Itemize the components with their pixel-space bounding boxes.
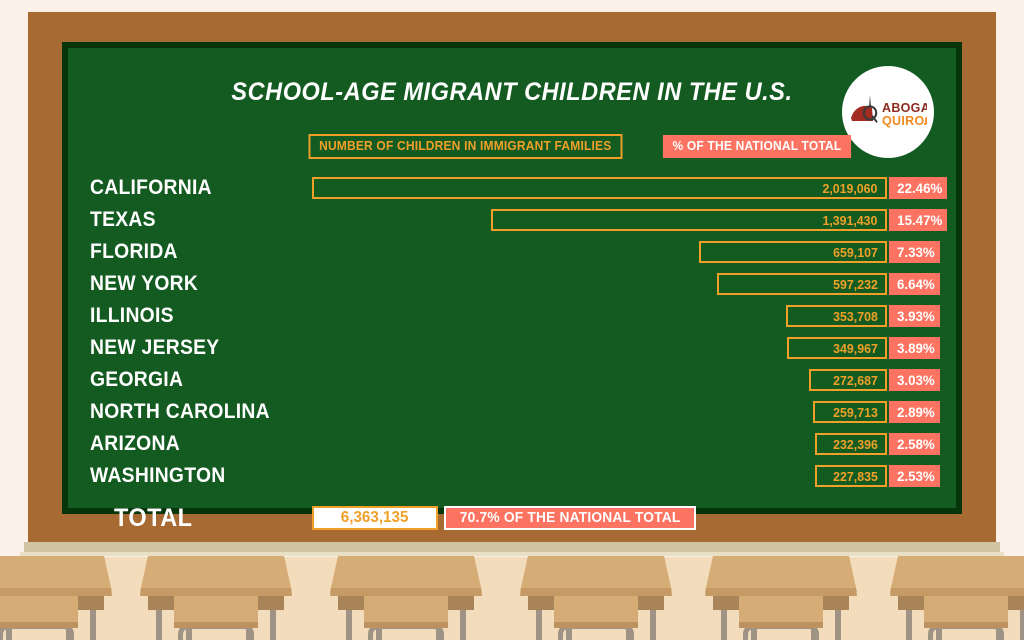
desk-top-shadow xyxy=(705,588,857,596)
chart-legend: NUMBER OF CHILDREN IN IMMIGRANT FAMILIES… xyxy=(302,134,854,159)
state-label: FLORIDA xyxy=(90,240,178,264)
value-bar: 227,835 xyxy=(815,465,887,487)
value-bar: 272,687 xyxy=(809,369,887,391)
state-label: NEW JERSEY xyxy=(90,336,219,360)
logo-mark-icon: ABOGADO QUIROGA xyxy=(849,92,927,132)
row-bars: 659,1077.33% xyxy=(699,241,968,263)
percent-label: 15.47% xyxy=(897,212,942,228)
desk-leg xyxy=(156,610,162,640)
legend-item-percent-national-total: % OF THE NATIONAL TOTAL xyxy=(662,135,850,158)
total-value-label: 6,363,135 xyxy=(341,509,409,527)
state-label: NORTH CAROLINA xyxy=(90,400,270,424)
desk-leg xyxy=(906,610,912,640)
desk-top-shadow xyxy=(520,588,672,596)
row-bars: 1,391,43015.47% xyxy=(491,209,968,231)
chart-row: FLORIDA659,1077.33% xyxy=(68,236,968,268)
value-label: 659,107 xyxy=(833,245,878,260)
value-label: 597,232 xyxy=(833,277,878,292)
value-label: 1,391,430 xyxy=(823,213,878,228)
row-bars: 597,2326.64% xyxy=(717,273,968,295)
value-label: 259,713 xyxy=(833,405,878,420)
infographic-canvas: SCHOOL-AGE MIGRANT CHILDREN IN THE U.S. … xyxy=(0,0,1024,640)
desk-leg xyxy=(90,610,96,640)
chart-row: WASHINGTON227,8352.53% xyxy=(68,460,968,492)
desk-leg xyxy=(1020,610,1024,640)
percent-label: 3.03% xyxy=(897,372,935,388)
logo-abogado-quiroga: ABOGADO QUIROGA xyxy=(842,66,934,158)
percent-bar: 3.93% xyxy=(889,305,940,327)
svg-text:QUIROGA: QUIROGA xyxy=(882,114,927,128)
desk-top-shadow xyxy=(0,588,112,596)
value-bar: 232,396 xyxy=(815,433,887,455)
chair-seat-shadow xyxy=(364,622,448,628)
desk xyxy=(140,556,292,640)
chart-row: ILLINOIS353,7083.93% xyxy=(68,300,968,332)
bar-chart: CALIFORNIA2,019,06022.46%TEXAS1,391,4301… xyxy=(68,172,968,538)
chalkboard-surface: SCHOOL-AGE MIGRANT CHILDREN IN THE U.S. … xyxy=(68,48,956,508)
percent-label: 22.46% xyxy=(897,180,942,196)
desk-top xyxy=(705,556,857,592)
state-label: GEORGIA xyxy=(90,368,183,392)
percent-bar: 15.47% xyxy=(889,209,947,231)
total-percent-label: 70.7% OF THE NATIONAL TOTAL xyxy=(460,510,681,526)
chalkboard-ledge xyxy=(24,542,1000,552)
chair-seat-shadow xyxy=(924,622,1008,628)
desk-leg xyxy=(346,610,352,640)
percent-label: 2.53% xyxy=(897,468,935,484)
chart-row: TEXAS1,391,43015.47% xyxy=(68,204,968,236)
value-bar: 597,232 xyxy=(717,273,887,295)
percent-label: 2.58% xyxy=(897,436,935,452)
desk xyxy=(705,556,857,640)
svg-text:ABOGADO: ABOGADO xyxy=(882,101,927,115)
page-title: SCHOOL-AGE MIGRANT CHILDREN IN THE U.S. xyxy=(95,78,930,107)
value-bar: 259,713 xyxy=(813,401,887,423)
value-bar: 353,708 xyxy=(786,305,887,327)
state-label: NEW YORK xyxy=(90,272,198,296)
desk-top-shadow xyxy=(140,588,292,596)
total-bars: 6,363,13570.7% OF THE NATIONAL TOTAL xyxy=(312,506,696,530)
percent-bar: 7.33% xyxy=(889,241,940,263)
value-label: 232,396 xyxy=(833,437,878,452)
legend-item-number-of-children: NUMBER OF CHILDREN IN IMMIGRANT FAMILIES xyxy=(309,134,622,159)
chart-row: CALIFORNIA2,019,06022.46% xyxy=(68,172,968,204)
chart-row: NEW JERSEY349,9673.89% xyxy=(68,332,968,364)
value-label: 2,019,060 xyxy=(823,181,878,196)
percent-bar: 3.89% xyxy=(889,337,940,359)
row-bars: 232,3962.58% xyxy=(815,433,968,455)
desk-top xyxy=(0,556,112,592)
state-label: ARIZONA xyxy=(90,432,180,456)
desk-leg xyxy=(721,610,727,640)
row-bars: 2,019,06022.46% xyxy=(312,177,968,199)
value-bar: 659,107 xyxy=(699,241,887,263)
desk-leg xyxy=(270,610,276,640)
total-value-box: 6,363,135 xyxy=(312,506,438,530)
percent-bar: 2.58% xyxy=(889,433,940,455)
value-bar: 2,019,060 xyxy=(312,177,887,199)
value-label: 227,835 xyxy=(833,469,878,484)
chart-row: ARIZONA232,3962.58% xyxy=(68,428,968,460)
chair-seat-shadow xyxy=(554,622,638,628)
desk-top xyxy=(140,556,292,592)
percent-bar: 22.46% xyxy=(889,177,947,199)
value-label: 353,708 xyxy=(833,309,878,324)
desk xyxy=(890,556,1024,640)
chair-seat-shadow xyxy=(739,622,823,628)
desk-top xyxy=(520,556,672,592)
chair-seat-shadow xyxy=(174,622,258,628)
percent-label: 6.64% xyxy=(897,276,935,292)
desk-top-shadow xyxy=(330,588,482,596)
chair-seat-shadow xyxy=(0,622,78,628)
state-label: WASHINGTON xyxy=(90,464,226,488)
value-bar: 349,967 xyxy=(787,337,887,359)
row-bars: 259,7132.89% xyxy=(813,401,968,423)
desk-leg xyxy=(536,610,542,640)
percent-label: 3.93% xyxy=(897,308,935,324)
desk-top-shadow xyxy=(890,588,1024,596)
percent-bar: 2.53% xyxy=(889,465,940,487)
state-label: CALIFORNIA xyxy=(90,176,212,200)
percent-label: 3.89% xyxy=(897,340,935,356)
desk-leg xyxy=(650,610,656,640)
desk-leg xyxy=(460,610,466,640)
chart-row: NEW YORK597,2326.64% xyxy=(68,268,968,300)
row-bars: 349,9673.89% xyxy=(787,337,968,359)
chart-row: NORTH CAROLINA259,7132.89% xyxy=(68,396,968,428)
value-bar: 1,391,430 xyxy=(491,209,887,231)
percent-bar: 6.64% xyxy=(889,273,940,295)
total-row: TOTAL6,363,13570.7% OF THE NATIONAL TOTA… xyxy=(68,498,968,538)
row-bars: 353,7083.93% xyxy=(786,305,968,327)
desk-top xyxy=(330,556,482,592)
state-label: TEXAS xyxy=(90,208,156,232)
row-bars: 272,6873.03% xyxy=(809,369,968,391)
total-label: TOTAL xyxy=(114,504,193,533)
percent-label: 2.89% xyxy=(897,404,935,420)
percent-bar: 2.89% xyxy=(889,401,940,423)
percent-label: 7.33% xyxy=(897,244,935,260)
desk xyxy=(520,556,672,640)
value-label: 272,687 xyxy=(833,373,878,388)
value-label: 349,967 xyxy=(833,341,878,356)
chalkboard-wood-frame: SCHOOL-AGE MIGRANT CHILDREN IN THE U.S. … xyxy=(28,12,996,542)
desk xyxy=(330,556,482,640)
desk xyxy=(0,556,112,640)
state-label: ILLINOIS xyxy=(90,304,174,328)
desk-leg xyxy=(835,610,841,640)
percent-bar: 3.03% xyxy=(889,369,940,391)
chalkboard-inner-edge: SCHOOL-AGE MIGRANT CHILDREN IN THE U.S. … xyxy=(62,42,962,514)
chart-row: GEORGIA272,6873.03% xyxy=(68,364,968,396)
total-percent-box: 70.7% OF THE NATIONAL TOTAL xyxy=(444,506,696,530)
row-bars: 227,8352.53% xyxy=(815,465,968,487)
desk-top xyxy=(890,556,1024,592)
